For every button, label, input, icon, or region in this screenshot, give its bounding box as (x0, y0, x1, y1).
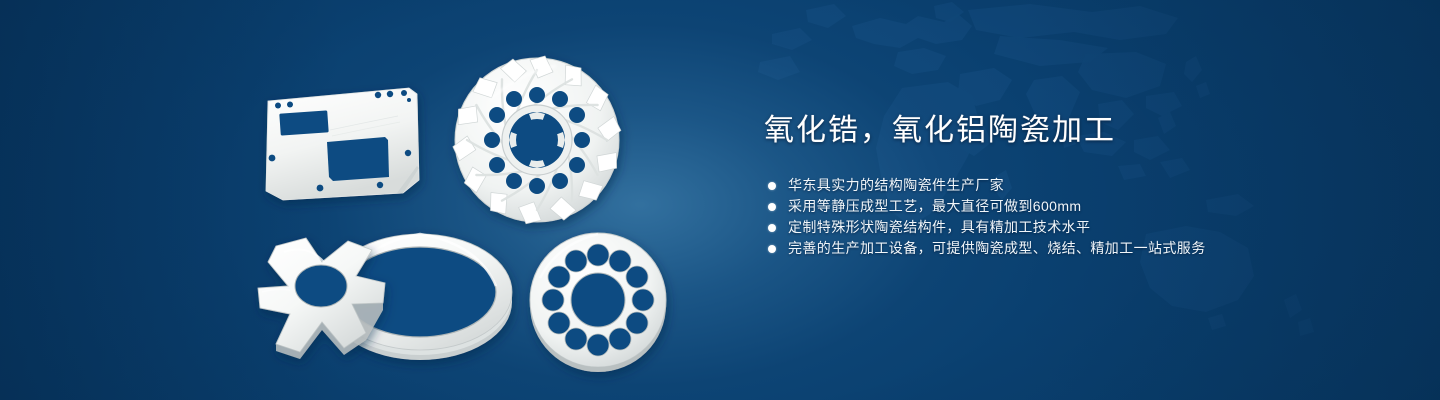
list-item-label: 华东具实力的结构陶瓷件生产厂家 (788, 177, 1004, 193)
list-item: 定制特殊形状陶瓷结构件，具有精加工技术水平 (764, 217, 1384, 238)
ceramic-impeller-disc (451, 56, 622, 224)
list-item-label: 定制特殊形状陶瓷结构件，具有精加工技术水平 (788, 219, 1090, 235)
copy-block: 氧化锆，氧化铝陶瓷加工 华东具实力的结构陶瓷件生产厂家 采用等静压成型工艺，最大… (764, 112, 1384, 259)
page-title: 氧化锆，氧化铝陶瓷加工 (764, 112, 1384, 150)
list-item: 华东具实力的结构陶瓷件生产厂家 (764, 175, 1384, 196)
bullet-dot-icon (768, 182, 776, 190)
bullet-dot-icon (768, 203, 776, 211)
list-item: 完善的生产加工设备，可提供陶瓷成型、烧结、精加工一站式服务 (764, 238, 1384, 259)
bullet-dot-icon (768, 245, 776, 253)
list-item-label: 采用等静压成型工艺，最大直径可做到600mm (788, 198, 1081, 214)
list-item-label: 完善的生产加工设备，可提供陶瓷成型、烧结、精加工一站式服务 (788, 240, 1206, 256)
product-image-group (0, 0, 720, 400)
hero-banner: 氧化锆，氧化铝陶瓷加工 华东具实力的结构陶瓷件生产厂家 采用等静压成型工艺，最大… (0, 0, 1440, 400)
bullet-dot-icon (768, 224, 776, 232)
list-item: 采用等静压成型工艺，最大直径可做到600mm (764, 196, 1384, 217)
ceramic-plate-with-cutouts (266, 88, 419, 200)
feature-list: 华东具实力的结构陶瓷件生产厂家 采用等静压成型工艺，最大直径可做到600mm 定… (764, 175, 1384, 259)
ceramic-perforated-flange (530, 233, 666, 372)
